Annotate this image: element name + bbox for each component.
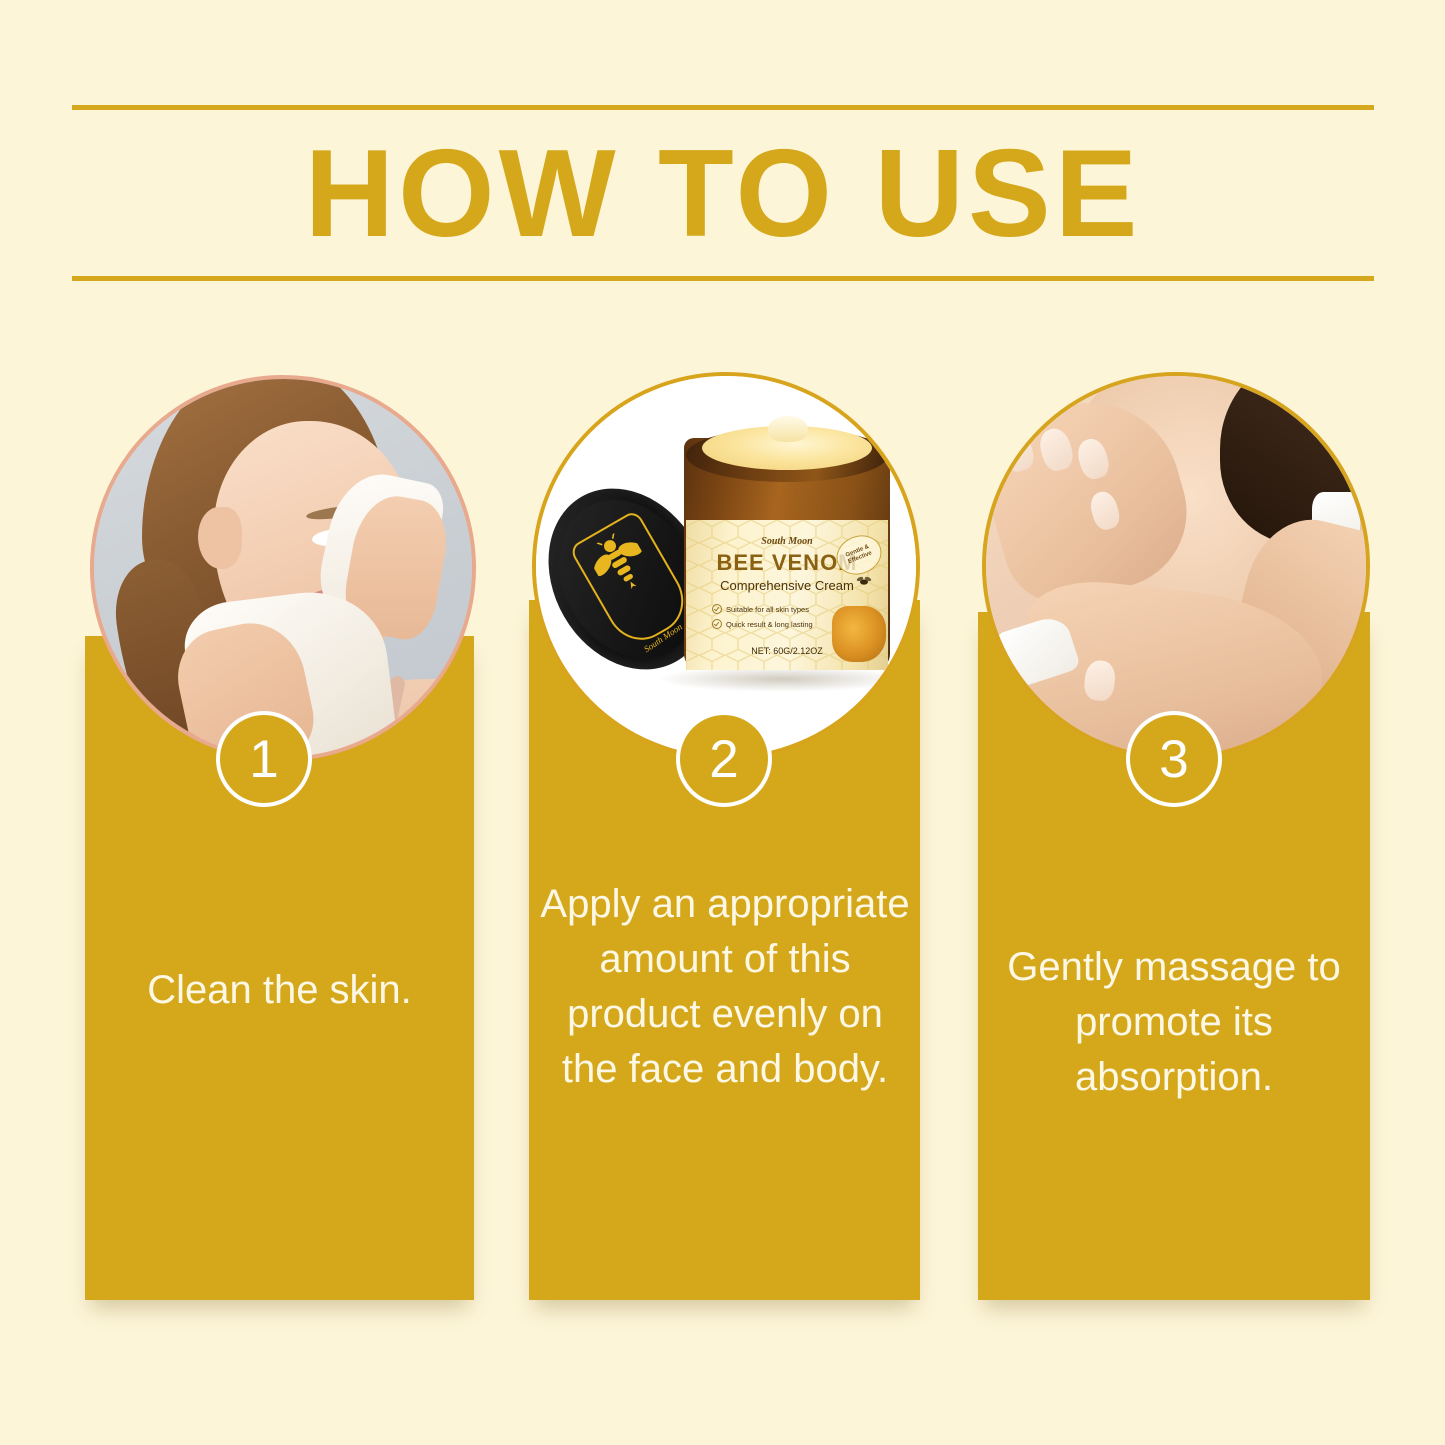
step-number-badge-2: 2	[676, 711, 772, 807]
check-circle-icon	[712, 604, 722, 614]
photo-woman-cleansing	[94, 379, 472, 757]
fingernail	[997, 428, 1037, 475]
steps-container: 1 Clean the skin.	[0, 0, 1445, 1445]
step-image-3	[982, 372, 1370, 760]
honeycomb-honey-graphic	[832, 606, 886, 662]
label-bullet-item: Quick result & long lasting	[712, 619, 813, 629]
check-circle-icon	[712, 619, 722, 629]
fingernail	[1074, 436, 1112, 482]
label-bullet-text: Quick result & long lasting	[726, 620, 813, 629]
jar-cream-peak	[768, 416, 808, 442]
step-caption-1: Clean the skin.	[85, 963, 474, 1018]
jar-label: South Moon BEE VENOM Comprehensive Cream…	[686, 520, 888, 670]
label-bullet-list: Suitable for all skin types Quick result…	[712, 604, 813, 634]
fingernail	[1036, 425, 1076, 474]
fingernail	[1087, 489, 1122, 533]
label-bullet-text: Suitable for all skin types	[726, 605, 809, 614]
photo-product-jar: South Moon	[536, 376, 916, 756]
label-bullet-item: Suitable for all skin types	[712, 604, 813, 614]
step-number-badge-1: 1	[216, 711, 312, 807]
step-caption-2: Apply an appropriate amount of this prod…	[536, 877, 914, 1097]
fingernail	[1083, 659, 1117, 702]
bee-icon-small	[856, 576, 872, 588]
ear-shape	[198, 507, 242, 569]
photo-hands-massaging	[986, 376, 1366, 756]
step-number-badge-3: 3	[1126, 711, 1222, 807]
step-image-2: South Moon	[532, 372, 920, 760]
step-caption-3: Gently massage to promote its absorption…	[982, 940, 1366, 1105]
step-image-1	[90, 375, 476, 761]
